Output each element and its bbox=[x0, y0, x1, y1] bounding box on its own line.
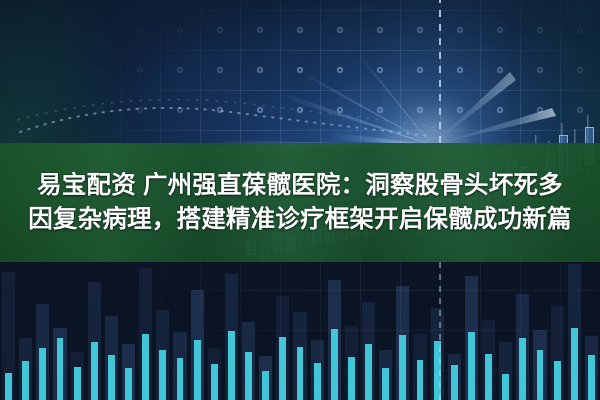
headline-line-2: 因复杂病理，搭建精准诊疗框架开启保髋成功新篇 bbox=[28, 205, 571, 235]
cover-image-canvas: 易宝配资 广州强直葆髋医院：洞察股骨头坏死多 因复杂病理，搭建精准诊疗框架开启保… bbox=[0, 0, 600, 400]
volume-panel bbox=[0, 262, 600, 400]
headline-line-1: 易宝配资 广州强直葆髋医院：洞察股骨头坏死多 bbox=[37, 171, 563, 201]
volume-dashed-marker bbox=[439, 262, 441, 400]
headline-text-block: 易宝配资 广州强直葆髋医院：洞察股骨头坏死多 因复杂病理，搭建精准诊疗框架开启保… bbox=[0, 143, 600, 262]
volume-panel-grid bbox=[0, 262, 600, 400]
